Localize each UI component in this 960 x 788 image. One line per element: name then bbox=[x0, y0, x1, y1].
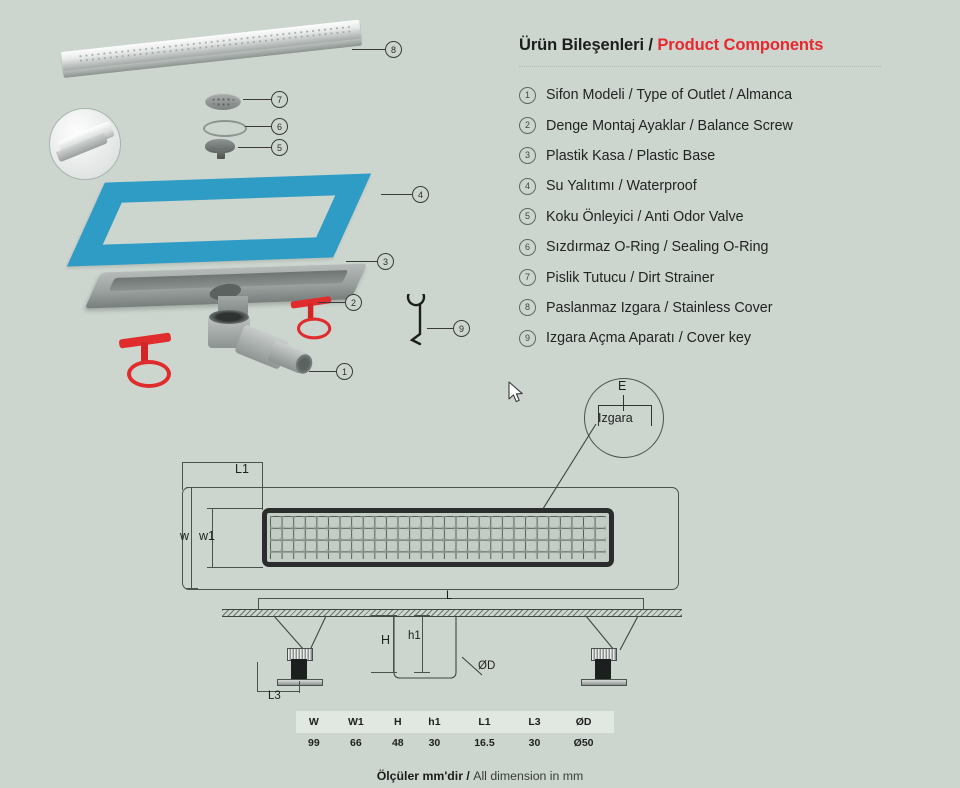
callout-leader bbox=[243, 99, 271, 100]
component-item-7: 7 Pislik Tutucu / Dirt Strainer bbox=[519, 262, 939, 292]
anti-odor-valve-part bbox=[205, 139, 235, 158]
component-number-badge: 2 bbox=[519, 117, 536, 134]
component-label: Paslanmaz Izgara / Stainless Cover bbox=[546, 300, 772, 316]
dim-h-tick-bottom bbox=[371, 672, 397, 673]
callout-bubble: 9 bbox=[453, 320, 470, 337]
dim-l1-label: L1 bbox=[235, 462, 249, 476]
section-foot-right-plate bbox=[581, 679, 627, 686]
component-number-badge: 6 bbox=[519, 239, 536, 256]
component-item-1: 1 Sifon Modeli / Type of Outlet / Almanc… bbox=[519, 80, 939, 110]
dim-h1-label: h1 bbox=[408, 630, 421, 642]
callout-9: 9 bbox=[427, 320, 470, 337]
component-item-8: 8 Paslanmaz Izgara / Stainless Cover bbox=[519, 293, 939, 323]
grate-top-view bbox=[262, 508, 614, 567]
dim-w1-tick-top bbox=[207, 508, 263, 509]
table-cell: 66 bbox=[332, 733, 380, 753]
units-footnote: Ölçüler mm'dir / All dimension in mm bbox=[0, 769, 960, 783]
callout-bubble: 8 bbox=[385, 41, 402, 58]
table-header-cell: ØD bbox=[553, 711, 614, 733]
component-number-badge: 7 bbox=[519, 269, 536, 286]
table-header-cell: L1 bbox=[453, 711, 516, 733]
callout-5: 5 bbox=[238, 139, 288, 156]
callout-leader bbox=[238, 147, 271, 148]
panel-title-tr: Ürün Bileşenleri bbox=[519, 36, 644, 54]
component-number-badge: 1 bbox=[519, 87, 536, 104]
component-label: Pislik Tutucu / Dirt Strainer bbox=[546, 270, 714, 286]
dim-l1-ext-left bbox=[182, 462, 183, 490]
callout-bubble: 7 bbox=[271, 91, 288, 108]
component-number-badge: 4 bbox=[519, 178, 536, 195]
component-label: Izgara Açma Aparatı / Cover key bbox=[546, 330, 751, 346]
callout-leader bbox=[309, 371, 336, 372]
callout-bubble: 1 bbox=[336, 363, 353, 380]
dimension-table: W W1 H h1 L1 L3 ØD 99 66 48 30 16.5 30 bbox=[296, 711, 614, 753]
section-foot-left-plate bbox=[277, 679, 323, 686]
section-foot-right-shaft bbox=[595, 659, 611, 681]
table-cell: Ø50 bbox=[553, 733, 614, 753]
callout-7: 7 bbox=[243, 91, 288, 108]
component-number-badge: 9 bbox=[519, 330, 536, 347]
component-item-5: 5 Koku Önleyici / Anti Odor Valve bbox=[519, 202, 939, 232]
screw-wheel bbox=[127, 360, 171, 388]
dim-l1-line bbox=[182, 462, 262, 463]
component-number-badge: 8 bbox=[519, 299, 536, 316]
panel-title: Ürün Bileşenleri / Product Components bbox=[519, 36, 939, 55]
callout-2: 2 bbox=[318, 294, 362, 311]
callout-bubble: 4 bbox=[412, 186, 429, 203]
table-row: 99 66 48 30 16.5 30 Ø50 bbox=[296, 733, 614, 753]
dim-h-line bbox=[393, 615, 394, 672]
dim-w-label: w bbox=[180, 529, 189, 543]
siphon-cup-opening bbox=[209, 310, 249, 324]
component-label: Su Yalıtımı / Waterproof bbox=[546, 178, 697, 194]
component-item-9: 9 Izgara Açma Aparatı / Cover key bbox=[519, 323, 939, 353]
valve-stem bbox=[217, 150, 225, 159]
dim-w-line bbox=[191, 487, 192, 588]
section-foot-left-shaft bbox=[291, 659, 307, 681]
dim-h1-tick-bottom bbox=[414, 672, 430, 673]
table-cell: 30 bbox=[516, 733, 554, 753]
table-header-cell: h1 bbox=[416, 711, 454, 733]
dimension-table-wrapper: W W1 H h1 L1 L3 ØD 99 66 48 30 16.5 30 bbox=[296, 711, 614, 753]
panel-divider bbox=[519, 66, 881, 67]
balance-screw-part-lower bbox=[117, 330, 173, 386]
callout-4: 4 bbox=[381, 186, 429, 203]
stainless-cover-part bbox=[61, 20, 361, 72]
dim-h1-tick-top bbox=[414, 615, 430, 616]
component-item-3: 3 Plastik Kasa / Plastic Base bbox=[519, 141, 939, 171]
component-label: Plastik Kasa / Plastic Base bbox=[546, 148, 715, 164]
dim-w-tick-bottom bbox=[186, 588, 198, 589]
dim-l-label: L bbox=[446, 590, 452, 602]
callout-3: 3 bbox=[346, 253, 394, 270]
callout-bubble: 5 bbox=[271, 139, 288, 156]
component-item-2: 2 Denge Montaj Ayaklar / Balance Screw bbox=[519, 110, 939, 140]
dim-l3-ext-right bbox=[299, 681, 300, 693]
product-components-panel: Ürün Bileşenleri / Product Components 1 … bbox=[519, 36, 939, 370]
panel-title-separator: / bbox=[644, 36, 657, 54]
siphon-outlet-part bbox=[208, 310, 318, 376]
table-cell: 48 bbox=[380, 733, 416, 753]
components-list: 1 Sifon Modeli / Type of Outlet / Almanc… bbox=[519, 80, 939, 354]
callout-leader bbox=[352, 49, 385, 50]
exploded-view: 8 7 6 5 4 3 2 1 bbox=[0, 0, 500, 410]
callout-leader bbox=[381, 194, 412, 195]
component-number-badge: 3 bbox=[519, 147, 536, 164]
dim-h1-line bbox=[422, 615, 423, 672]
component-label: Sızdırmaz O-Ring / Sealing O-Ring bbox=[546, 239, 768, 255]
dim-h-tick-top bbox=[371, 615, 397, 616]
callout-bubble: 6 bbox=[271, 118, 288, 135]
component-label: Sifon Modeli / Type of Outlet / Almanca bbox=[546, 87, 792, 103]
callout-bubble: 2 bbox=[345, 294, 362, 311]
detail-dim-label: E bbox=[618, 379, 626, 393]
dim-w1-tick-bottom bbox=[207, 567, 263, 568]
units-footnote-separator: / bbox=[463, 769, 473, 783]
dim-w-tick-top bbox=[186, 487, 198, 488]
panel-title-en: Product Components bbox=[657, 36, 823, 54]
grate-cell-pattern bbox=[270, 516, 606, 559]
table-header-cell: W bbox=[296, 711, 332, 733]
table-header-cell: W1 bbox=[332, 711, 380, 733]
mouse-cursor bbox=[508, 381, 526, 405]
table-header-row: W W1 H h1 L1 L3 ØD bbox=[296, 711, 614, 733]
page-canvas: 8 7 6 5 4 3 2 1 bbox=[0, 0, 960, 788]
detail-name-label: Izgara bbox=[598, 411, 633, 425]
waterproof-membrane-part bbox=[67, 173, 371, 266]
table-header-cell: H bbox=[380, 711, 416, 733]
callout-6: 6 bbox=[245, 118, 288, 135]
component-number-badge: 5 bbox=[519, 208, 536, 225]
dirt-strainer-part bbox=[205, 93, 241, 110]
table-cell: 99 bbox=[296, 733, 332, 753]
dim-h-label: H bbox=[381, 633, 390, 647]
units-footnote-tr: Ölçüler mm'dir bbox=[377, 769, 463, 783]
table-cell: 16.5 bbox=[453, 733, 516, 753]
dim-od-label: ØD bbox=[478, 660, 495, 672]
dim-l3-ext-left bbox=[257, 662, 258, 692]
component-label: Denge Montaj Ayaklar / Balance Screw bbox=[546, 118, 793, 134]
sealing-o-ring-part bbox=[203, 120, 247, 137]
callout-1: 1 bbox=[309, 363, 353, 380]
units-footnote-en: All dimension in mm bbox=[473, 769, 583, 783]
dim-l1-ext-right bbox=[262, 462, 263, 510]
component-label: Koku Önleyici / Anti Odor Valve bbox=[546, 209, 744, 225]
callout-bubble: 3 bbox=[377, 253, 394, 270]
callout-leader bbox=[346, 261, 377, 262]
component-item-6: 6 Sızdırmaz O-Ring / Sealing O-Ring bbox=[519, 232, 939, 262]
table-header-cell: L3 bbox=[516, 711, 554, 733]
cover-edge-detail-inset bbox=[49, 108, 121, 180]
dim-l3-label: L3 bbox=[268, 690, 281, 702]
callout-leader bbox=[427, 328, 453, 329]
callout-leader bbox=[318, 302, 345, 303]
callout-8: 8 bbox=[352, 41, 402, 58]
component-item-4: 4 Su Yalıtımı / Waterproof bbox=[519, 171, 939, 201]
dim-w1-label: w1 bbox=[199, 529, 215, 543]
table-cell: 30 bbox=[416, 733, 454, 753]
callout-leader bbox=[245, 126, 271, 127]
